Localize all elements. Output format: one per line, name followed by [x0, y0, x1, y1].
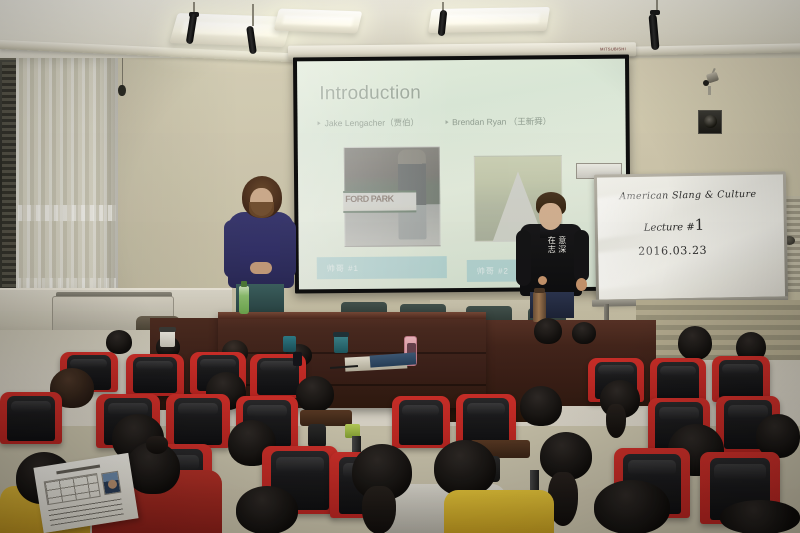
smartphone[interactable]: [293, 352, 302, 366]
screen-brand-label: MITSUBISHI: [600, 46, 626, 51]
seat: [0, 392, 62, 444]
slide-caption-2-text: 帅哥 #2: [477, 265, 509, 276]
seat: [166, 394, 230, 448]
slide-bullet-2-text: Brendan Ryan （王新舜）: [452, 115, 551, 128]
camera-mount: [708, 86, 711, 95]
slide-photo-jake: FORD PARK: [344, 146, 441, 247]
presenter-right-arm: [516, 230, 531, 286]
slide-bullet-1-text: Jake Lengacher（贾伯）: [324, 116, 419, 129]
audience-head: [572, 322, 596, 344]
bottle-cap: [241, 281, 247, 287]
form-id-photo: [101, 471, 121, 495]
audience-head: [720, 500, 800, 533]
white-coffee-cup: [160, 330, 175, 347]
slide-title: Introduction: [319, 82, 421, 105]
audience-head: [236, 486, 298, 533]
hanging-knob: [118, 85, 126, 96]
whiteboard[interactable]: American Slang & Culture Lecture #1 2016…: [594, 171, 788, 302]
slide-caption-1-text: 帅哥 #1: [327, 262, 359, 273]
lecture-hall-photo: MITSUBISHI Introduction Jake Lengacher（贾…: [0, 0, 800, 533]
back-wall-panel: [636, 300, 800, 360]
bullet-triangle-icon: [318, 121, 321, 125]
presenter-right-face: [539, 203, 562, 230]
photo-sign-text: FORD PARK: [345, 194, 393, 204]
thermos-cap: [534, 288, 545, 293]
bullet-triangle-icon: [445, 120, 448, 124]
slide-bullet-1: Jake Lengacher（贾伯）: [317, 116, 419, 129]
seat-armrest: [300, 410, 352, 426]
slide-caption-1: 帅哥 #1: [317, 256, 447, 279]
seat: [392, 396, 450, 448]
ponytail: [606, 404, 626, 438]
fluorescent-panel-light: [274, 9, 363, 34]
audience-head: [678, 326, 712, 360]
audience-head: [106, 330, 132, 354]
spotlight-rod: [252, 4, 254, 26]
audience-head: [594, 480, 670, 533]
presenter-right-arm: [574, 230, 589, 282]
speaker-cone-icon: [704, 115, 717, 128]
audience-head: [434, 440, 496, 496]
cup-lid: [333, 332, 349, 337]
seat: [126, 354, 184, 396]
window-curtain[interactable]: [16, 58, 118, 296]
cup-lid: [159, 327, 176, 332]
presenter-left-arm: [224, 220, 240, 278]
whiteboard-surface: American Slang & Culture Lecture #1 2016…: [597, 174, 785, 299]
photo-sign: FORD PARK: [343, 191, 416, 213]
audience-head: [296, 376, 334, 412]
form-table-grid: [44, 473, 101, 505]
presenter-left-hands: [250, 262, 272, 274]
audience-head: [534, 318, 562, 344]
ponytail: [362, 486, 396, 533]
audience-shoulders-yellow: [444, 490, 554, 533]
desk-top-edge: [218, 312, 486, 319]
hanging-cord: [122, 58, 123, 86]
green-bottle: [239, 286, 249, 314]
presenter-right: 在 意 志 深: [518, 192, 590, 320]
presenter-right-hand: [576, 278, 587, 291]
cupholder: [308, 424, 326, 448]
presenter-left: [222, 176, 298, 316]
slide-bullet-row: Jake Lengacher（贾伯） Brendan Ryan （王新舜）: [317, 115, 617, 130]
curtain-lace-trim: [18, 205, 116, 221]
jacket-calligraphy: 在 意 志 深: [546, 236, 568, 254]
presenter-left-beard: [249, 202, 274, 218]
hair-bun: [146, 436, 168, 454]
audience-head: [520, 386, 562, 426]
teal-cup: [283, 336, 296, 352]
teal-travel-mug: [334, 335, 348, 353]
whiteboard-glare: [597, 242, 704, 290]
slide-bullet-2: Brendan Ryan （王新舜）: [445, 115, 551, 128]
presenter-right-hand: [538, 276, 547, 285]
presenter-left-arm: [280, 220, 296, 278]
